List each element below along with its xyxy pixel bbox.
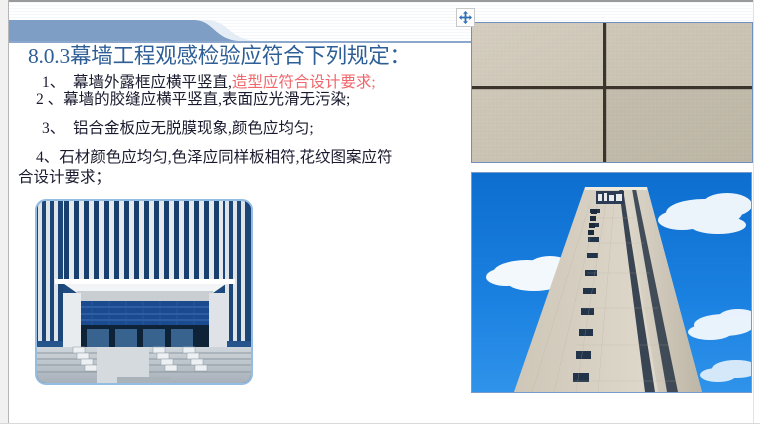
list-item-3: 3、 铝合金板应无脱膜现象,颜色应均匀; xyxy=(18,120,458,137)
page-edge-bottom xyxy=(0,423,760,430)
page-title: 8.0.3幕墙工程观感检验应符合下列规定： xyxy=(18,44,458,68)
list-item-4: 4、石材颜色应均匀,色泽应同样板相符,花纹图案应符 xyxy=(18,149,458,166)
high-rise-tower-artwork xyxy=(472,173,751,392)
page-edge-right xyxy=(753,0,760,430)
page-edge-left xyxy=(0,0,9,430)
list-item-1: 1、 幕墙外露框应横平竖直,造型应符合设计要求; xyxy=(18,74,458,91)
list-item-4-continuation: 合设计要求； xyxy=(18,169,458,186)
stone-panel-artwork xyxy=(472,23,752,162)
building-entrance-artwork xyxy=(37,201,251,383)
list-item-3-number: 3、 xyxy=(42,120,65,137)
slide-canvas: 8.0.3幕墙工程观感检验应符合下列规定： 1、 幕墙外露框应横平竖直,造型应符… xyxy=(0,0,760,430)
slide-text-block: 8.0.3幕墙工程观感检验应符合下列规定： 1、 幕墙外露框应横平竖直,造型应符… xyxy=(18,44,458,186)
move-four-arrows-glyph xyxy=(459,11,472,24)
high-rise-tower-photo[interactable] xyxy=(471,172,752,393)
stone-panel-selection-group[interactable] xyxy=(471,22,753,163)
list-item-3-text: 铝合金板应无脱膜现象,颜色应均匀; xyxy=(65,120,313,137)
list-item-1-text: 幕墙外露框应横平竖直, xyxy=(65,74,232,91)
list-item-2: 2 、幕墙的胶缝应横平竖直,表面应光滑无污染; xyxy=(18,91,458,108)
move-four-arrows-icon[interactable] xyxy=(456,8,475,27)
list-item-1-highlight: 造型应符合设计要求; xyxy=(232,74,376,91)
building-entrance-photo[interactable] xyxy=(35,199,253,385)
list-item-1-number: 1、 xyxy=(42,74,65,91)
stone-panel-closeup-photo[interactable] xyxy=(471,22,753,163)
